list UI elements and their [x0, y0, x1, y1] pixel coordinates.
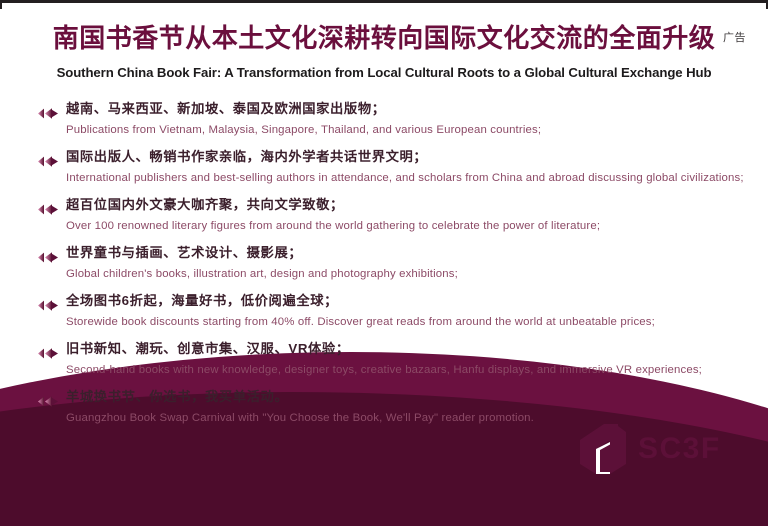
double-chevron-bullet-icon — [38, 346, 60, 357]
highlights-list: 越南、马来西亚、新加坡、泰国及欧洲国家出版物； Publications fro… — [0, 100, 768, 436]
list-item-english: Global children's books, illustration ar… — [66, 262, 768, 283]
list-item-english: Over 100 renowned literary figures from … — [66, 214, 768, 235]
poster-canvas: 南国书香节从本土文化深耕转向国际文化交流的全面升级 Southern China… — [0, 0, 768, 526]
list-item-chinese: 羊城换书节、你选书，我买单活动。 — [66, 388, 768, 406]
advertisement-label: 广告 — [723, 29, 746, 45]
list-item: 旧书新知、潮玩、创意市集、汉服、VR体验； Second-hand books … — [0, 340, 768, 388]
list-item-english: Second-hand books with new knowledge, de… — [66, 358, 768, 379]
double-chevron-bullet-icon — [38, 154, 60, 165]
list-item: 世界童书与插画、艺术设计、摄影展； Global children's book… — [0, 244, 768, 292]
list-item-chinese: 国际出版人、畅销书作家亲临，海内外学者共话世界文明； — [66, 148, 768, 166]
list-item-chinese: 旧书新知、潮玩、创意市集、汉服、VR体验； — [66, 340, 768, 358]
double-chevron-bullet-icon — [38, 106, 60, 117]
list-item: 超百位国内外文豪大咖齐聚，共向文学致敬； Over 100 renowned l… — [0, 196, 768, 244]
list-item-english: Storewide book discounts starting from 4… — [66, 310, 768, 331]
list-item-english: International publishers and best-sellin… — [66, 166, 768, 187]
double-chevron-bullet-icon — [38, 250, 60, 261]
frame-border-left — [0, 0, 2, 9]
list-item: 越南、马来西亚、新加坡、泰国及欧洲国家出版物； Publications fro… — [0, 100, 768, 148]
frame-border-top — [0, 0, 768, 3]
scbf-logo-text: SC3F — [638, 434, 721, 464]
page-subtitle-english: Southern China Book Fair: A Transformati… — [0, 54, 768, 80]
list-item-english: Publications from Vietnam, Malaysia, Sin… — [66, 118, 768, 139]
double-chevron-bullet-icon — [38, 202, 60, 213]
list-item-chinese: 世界童书与插画、艺术设计、摄影展； — [66, 244, 768, 262]
list-item-chinese: 超百位国内外文豪大咖齐聚，共向文学致敬； — [66, 196, 768, 214]
scbf-logo: SC3F — [574, 418, 724, 480]
list-item: 全场图书6折起，海量好书，低价阅遍全球； Storewide book disc… — [0, 292, 768, 340]
page-title-chinese: 南国书香节从本土文化深耕转向国际文化交流的全面升级 — [0, 0, 768, 54]
scbf-book-logo-icon — [574, 420, 632, 478]
double-chevron-bullet-icon — [38, 298, 60, 309]
list-item: 国际出版人、畅销书作家亲临，海内外学者共话世界文明； International… — [0, 148, 768, 196]
list-item-chinese: 越南、马来西亚、新加坡、泰国及欧洲国家出版物； — [66, 100, 768, 118]
double-chevron-bullet-icon — [38, 394, 60, 405]
list-item-chinese: 全场图书6折起，海量好书，低价阅遍全球； — [66, 292, 768, 310]
poster-header: 南国书香节从本土文化深耕转向国际文化交流的全面升级 Southern China… — [0, 0, 768, 80]
